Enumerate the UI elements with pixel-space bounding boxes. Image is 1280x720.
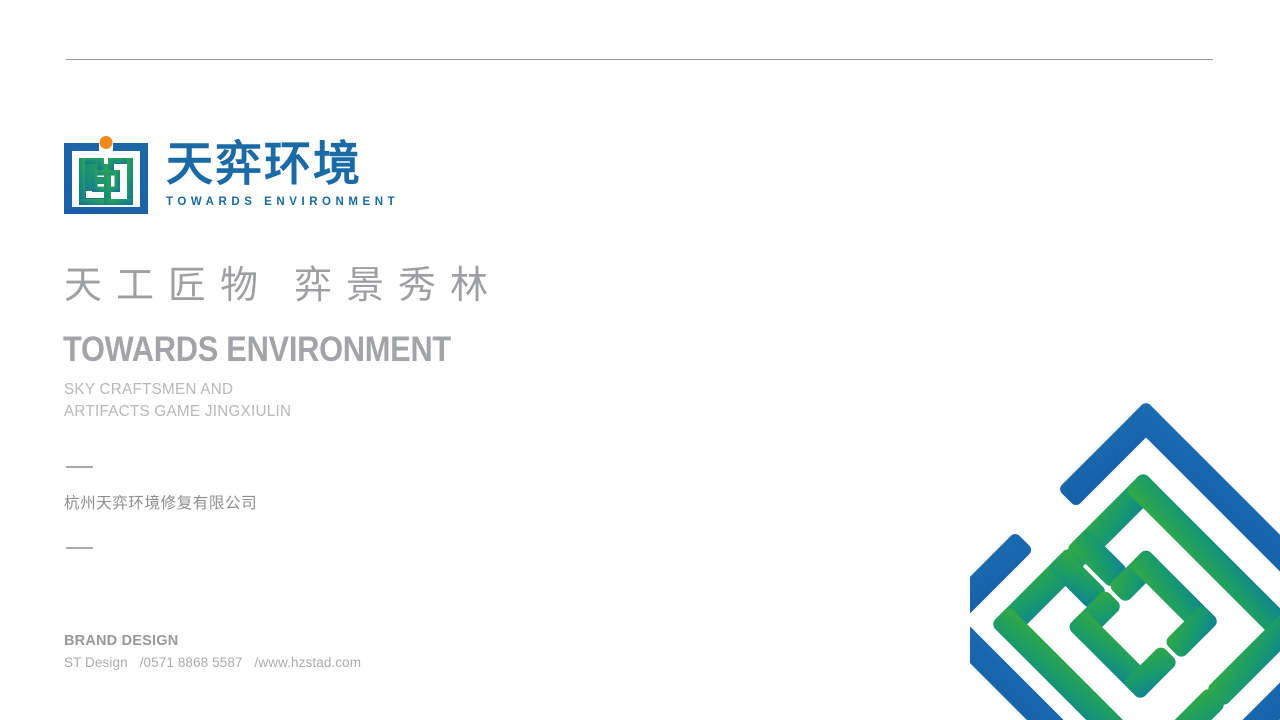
headline-chinese-right: 弈景秀林 xyxy=(294,265,502,307)
company-rule-top xyxy=(66,466,93,468)
footer-meta: ST Design/0571 8868 5587/www.hzstad.com xyxy=(64,655,361,670)
headline-chinese-left: 天工匠物 xyxy=(64,265,272,307)
company-name: 杭州天弈环境修复有限公司 xyxy=(64,495,257,514)
corner-decorative-logo-graphic xyxy=(970,395,1280,720)
subtitle-line-1: SKY CRAFTSMEN AND xyxy=(64,379,291,401)
tianyi-environment-logo-mark xyxy=(64,136,148,214)
company-rule-bottom xyxy=(66,547,93,549)
headline-subtitle: SKY CRAFTSMEN AND ARTIFACTS GAME JINGXIU… xyxy=(64,379,291,423)
footer-phone: /0571 8868 5587 xyxy=(140,655,243,670)
footer-website[interactable]: /www.hzstad.com xyxy=(255,655,362,670)
brand-design-slide: 天弈环境 TOWARDS ENVIRONMENT 天工匠物弈景秀林 TOWARD… xyxy=(0,0,1280,720)
top-divider-rule xyxy=(66,59,1213,60)
headline-english: TOWARDS ENVIRONMENT xyxy=(63,331,451,370)
logo-english-name: TOWARDS ENVIRONMENT xyxy=(166,196,399,208)
headline-chinese: 天工匠物弈景秀林 xyxy=(64,266,502,308)
footer-studio: ST Design xyxy=(64,655,128,670)
logo-chinese-name: 天弈环境 xyxy=(166,140,399,189)
footer-title: BRAND DESIGN xyxy=(64,633,178,649)
brand-logo-lockup: 天弈环境 TOWARDS ENVIRONMENT xyxy=(64,136,399,214)
orange-dot-accent xyxy=(100,136,113,149)
logo-wordmark: 天弈环境 TOWARDS ENVIRONMENT xyxy=(166,136,399,208)
subtitle-line-2: ARTIFACTS GAME JINGXIULIN xyxy=(64,401,291,423)
